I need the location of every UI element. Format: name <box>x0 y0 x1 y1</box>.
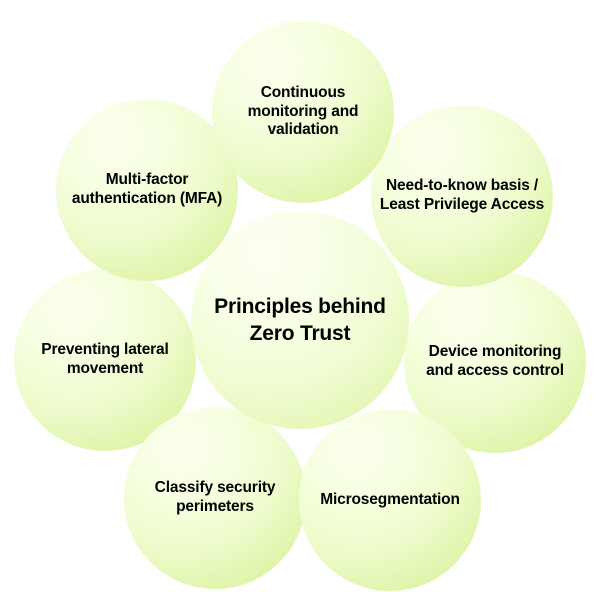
label-line-2: monitoring and <box>248 103 359 122</box>
bubble-label-device-monitoring: Device monitoring and access control <box>418 343 572 381</box>
hub-label: Principles behind Zero Trust <box>206 293 394 348</box>
label-line-2: authentication (MFA) <box>72 190 222 209</box>
bubble-need-to-know-basis[interactable]: Need-to-know basis / Least Privilege Acc… <box>371 105 553 287</box>
bubble-classify-security-perimeters[interactable]: Classify security perimeters <box>124 407 306 589</box>
bubble-label-need-to-know-basis: Need-to-know basis / Least Privilege Acc… <box>372 177 552 215</box>
zero-trust-principles-diagram: Multi-factor authentication (MFA) Contin… <box>0 0 600 592</box>
label-line-1: Continuous <box>248 84 359 103</box>
label-line-1: Need-to-know basis / <box>380 177 544 196</box>
label-line-2: perimeters <box>155 498 276 517</box>
label-line-1: Principles behind <box>214 293 386 320</box>
label-line-2: Zero Trust <box>214 320 386 347</box>
bubble-label-continuous-monitoring: Continuous monitoring and validation <box>240 84 367 141</box>
bubble-hub-principles-behind-zero-trust[interactable]: Principles behind Zero Trust <box>191 211 409 429</box>
label-line-3: validation <box>248 121 359 140</box>
bubble-continuous-monitoring[interactable]: Continuous monitoring and validation <box>212 21 394 203</box>
bubble-label-preventing-lateral-movement: Preventing lateral movement <box>33 341 176 379</box>
bubble-label-multi-factor-authentication: Multi-factor authentication (MFA) <box>64 171 230 209</box>
bubble-label-microsegmentation: Microsegmentation <box>312 491 468 510</box>
label-line-2: Least Privilege Access <box>380 196 544 215</box>
label-line-1: Preventing lateral <box>41 341 168 360</box>
label-line-2: movement <box>41 360 168 379</box>
label-line-1: Microsegmentation <box>320 491 460 510</box>
label-line-1: Device monitoring <box>426 343 564 362</box>
label-line-1: Classify security <box>155 479 276 498</box>
bubble-multi-factor-authentication[interactable]: Multi-factor authentication (MFA) <box>56 99 238 281</box>
bubble-label-classify-security-perimeters: Classify security perimeters <box>147 479 284 517</box>
label-line-2: and access control <box>426 362 564 381</box>
label-line-1: Multi-factor <box>72 171 222 190</box>
bubble-microsegmentation[interactable]: Microsegmentation <box>299 409 481 591</box>
